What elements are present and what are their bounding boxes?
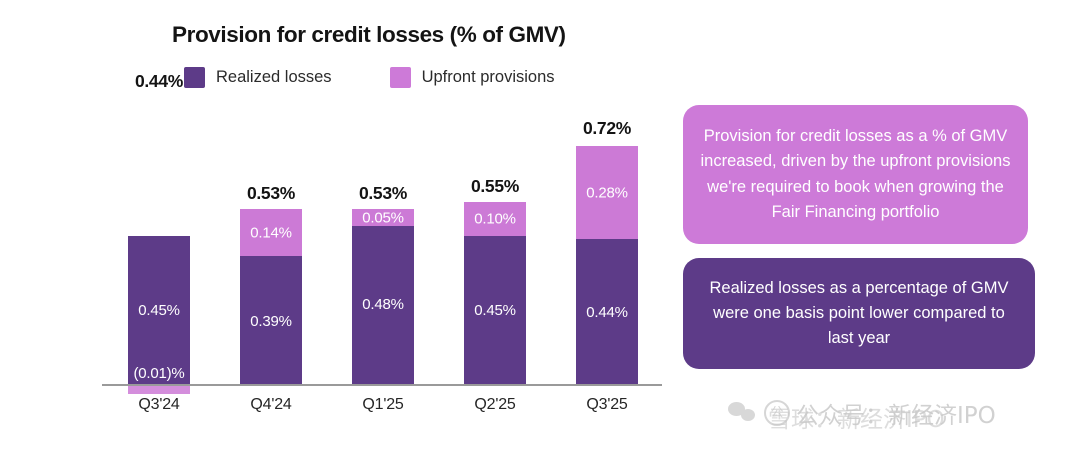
bar-segment-upfront-provisions-negative [128, 386, 190, 394]
chart-title: Provision for credit losses (% of GMV) [172, 22, 566, 48]
bar-total-label: 0.53% [359, 183, 407, 204]
watermark-xueqiu-text: 雪球：新经济IPO [768, 400, 945, 434]
x-axis-tick-label: Q4'24 [226, 396, 316, 414]
bar-segment-realized-losses: 0.45% (0.01)% [128, 236, 190, 386]
x-axis-line [102, 384, 662, 386]
bar-segment-realized-losses: 0.48% [352, 226, 414, 386]
legend-label-realized-losses: Realized losses [216, 68, 332, 87]
watermark-wechat-text: 公众号：新经济IPO [796, 396, 996, 430]
bar-total-label: 0.44% [135, 71, 183, 92]
bar-stack: 0.10% 0.45% [464, 202, 526, 386]
bar-segment-upfront-provisions: 0.05% [352, 209, 414, 226]
bar-stack: 0.14% 0.39% [240, 209, 302, 386]
bar-segment-label: 0.28% [586, 184, 628, 201]
bar-segment-realized-losses: 0.45% [464, 236, 526, 386]
bar-stack: 0.45% (0.01)% [128, 236, 190, 386]
legend-item-realized-losses: Realized losses [184, 67, 332, 88]
bar-stack: 0.05% 0.48% [352, 209, 414, 386]
bar-segment-label: 0.10% [474, 211, 516, 228]
x-axis-tick-label: Q1'25 [338, 396, 428, 414]
legend-item-upfront-provisions: Upfront provisions [390, 67, 555, 88]
chart-panel: Provision for credit losses (% of GMV) R… [0, 0, 680, 454]
bar-segment-upfront-provisions: 0.14% [240, 209, 302, 256]
watermark-wechat: 公 公众号：新经济IPO [728, 396, 996, 430]
bar-total-label: 0.53% [247, 183, 295, 204]
bar-segment-label: 0.45% [474, 302, 516, 319]
official-account-glyph: 公 [766, 407, 788, 420]
bar-segment-label: 0.45% [138, 302, 180, 319]
callout-upfront-provisions: Provision for credit losses as a % of GM… [683, 105, 1028, 244]
bar-total-label: 0.72% [583, 118, 631, 139]
watermark-xueqiu: 雪球：新经济IPO [768, 400, 945, 434]
x-axis-tick-label: Q2'25 [450, 396, 540, 414]
bar-total-label: 0.55% [471, 176, 519, 197]
callout-realized-losses: Realized losses as a percentage of GMV w… [683, 258, 1035, 369]
bar-segment-upfront-provisions: 0.10% [464, 202, 526, 236]
bar-stack: 0.28% 0.44% [576, 146, 638, 386]
wechat-icon [728, 402, 758, 424]
bar-segment-label-negative: (0.01)% [133, 365, 184, 382]
official-account-icon: 公 [764, 400, 790, 426]
bar-segment-realized-losses: 0.44% [576, 239, 638, 386]
bar-segment-label: 0.14% [250, 224, 292, 241]
x-axis-tick-label: Q3'24 [114, 396, 204, 414]
chart-legend: Realized losses Upfront provisions [184, 67, 555, 88]
bar-segment-label: 0.39% [250, 313, 292, 330]
bar-segment-realized-losses: 0.39% [240, 256, 302, 386]
bar-segment-label: 0.05% [362, 209, 404, 226]
watermark: 公 公众号：新经济IPO 雪球：新经济IPO [728, 392, 1068, 440]
legend-label-upfront-provisions: Upfront provisions [422, 68, 555, 87]
plot-area: 0.44% 0.45% (0.01)% 0.53% 0.14% 0.39% [102, 100, 662, 386]
bar-segment-label: 0.48% [362, 296, 404, 313]
x-axis-tick-label: Q3'25 [562, 396, 652, 414]
bar-segment-label: 0.44% [586, 304, 628, 321]
legend-swatch-realized-losses [184, 67, 205, 88]
bar-segment-upfront-provisions: 0.28% [576, 146, 638, 239]
legend-swatch-upfront-provisions [390, 67, 411, 88]
